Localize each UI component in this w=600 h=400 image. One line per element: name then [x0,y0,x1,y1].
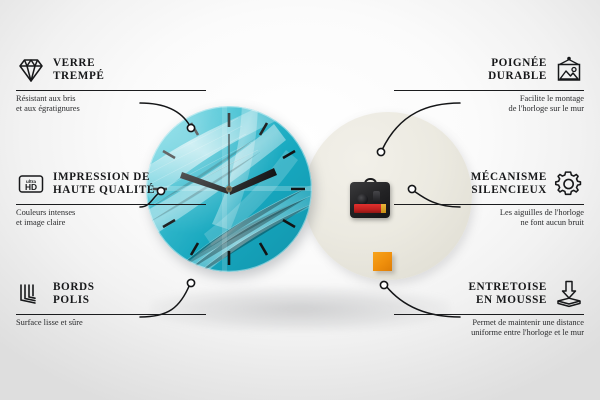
callout-title: MÉCANISME SILENCIEUX [471,171,547,196]
callout-title: IMPRESSION DE HAUTE QUALITÉ [53,171,155,196]
callout-header: MÉCANISME SILENCIEUX [394,166,584,202]
connector-endpoint-verre-trempe [187,124,194,131]
infographic-canvas: VERRE TREMPÉ Résistant aux bris et aux é… [0,0,600,400]
callout-title: POIGNÉE DURABLE [488,57,547,82]
ultra-hd-icon: ultra HD [16,169,46,199]
foam-spacer-icon [554,279,584,309]
hanging-frame-icon [554,55,584,85]
callout-description: Couleurs intenses et image claire [16,208,206,229]
callout-mecanisme-silencieux: MÉCANISME SILENCIEUX Les aiguilles de l'… [394,166,584,229]
callout-rule [394,204,584,205]
callout-title: ENTRETOISE EN MOUSSE [468,281,547,306]
callout-header: VERRE TREMPÉ [16,52,206,88]
callout-rule [394,90,584,91]
callout-description: Surface lisse et sûre [16,318,206,328]
callout-entretoise-en-mousse: ENTRETOISE EN MOUSSE Permet de maintenir… [394,276,584,339]
callout-bords-polis: BORDS POLIS Surface lisse et sûre [16,276,206,328]
callout-rule [16,204,206,205]
connector-endpoint-poignee-durable [377,148,384,155]
callout-verre-trempe: VERRE TREMPÉ Résistant aux bris et aux é… [16,52,206,115]
callout-poignee-durable: POIGNÉE DURABLE Facilite le montage de l… [394,52,584,115]
callout-description: Permet de maintenir une distance uniform… [394,318,584,339]
callout-impression-hd: ultra HD IMPRESSION DE HAUTE QUALITÉ Cou… [16,166,206,229]
callout-title: BORDS POLIS [53,281,95,306]
connector-endpoint-entretoise [380,281,387,288]
callout-description: Résistant aux bris et aux égratignures [16,94,206,115]
callout-rule [16,90,206,91]
callout-description: Les aiguilles de l'horloge ne font aucun… [394,208,584,229]
gear-icon [554,169,584,199]
callout-description: Facilite le montage de l'horloge sur le … [394,94,584,115]
callout-rule [394,314,584,315]
callout-header: ultra HD IMPRESSION DE HAUTE QUALITÉ [16,166,206,202]
callout-title: VERRE TREMPÉ [53,57,104,82]
callout-header: ENTRETOISE EN MOUSSE [394,276,584,312]
callout-header: BORDS POLIS [16,276,206,312]
ultra-hd-icon-large-text: HD [25,182,37,192]
polished-edges-icon [16,279,46,309]
diamond-icon [16,55,46,85]
callout-rule [16,314,206,315]
callout-header: POIGNÉE DURABLE [394,52,584,88]
